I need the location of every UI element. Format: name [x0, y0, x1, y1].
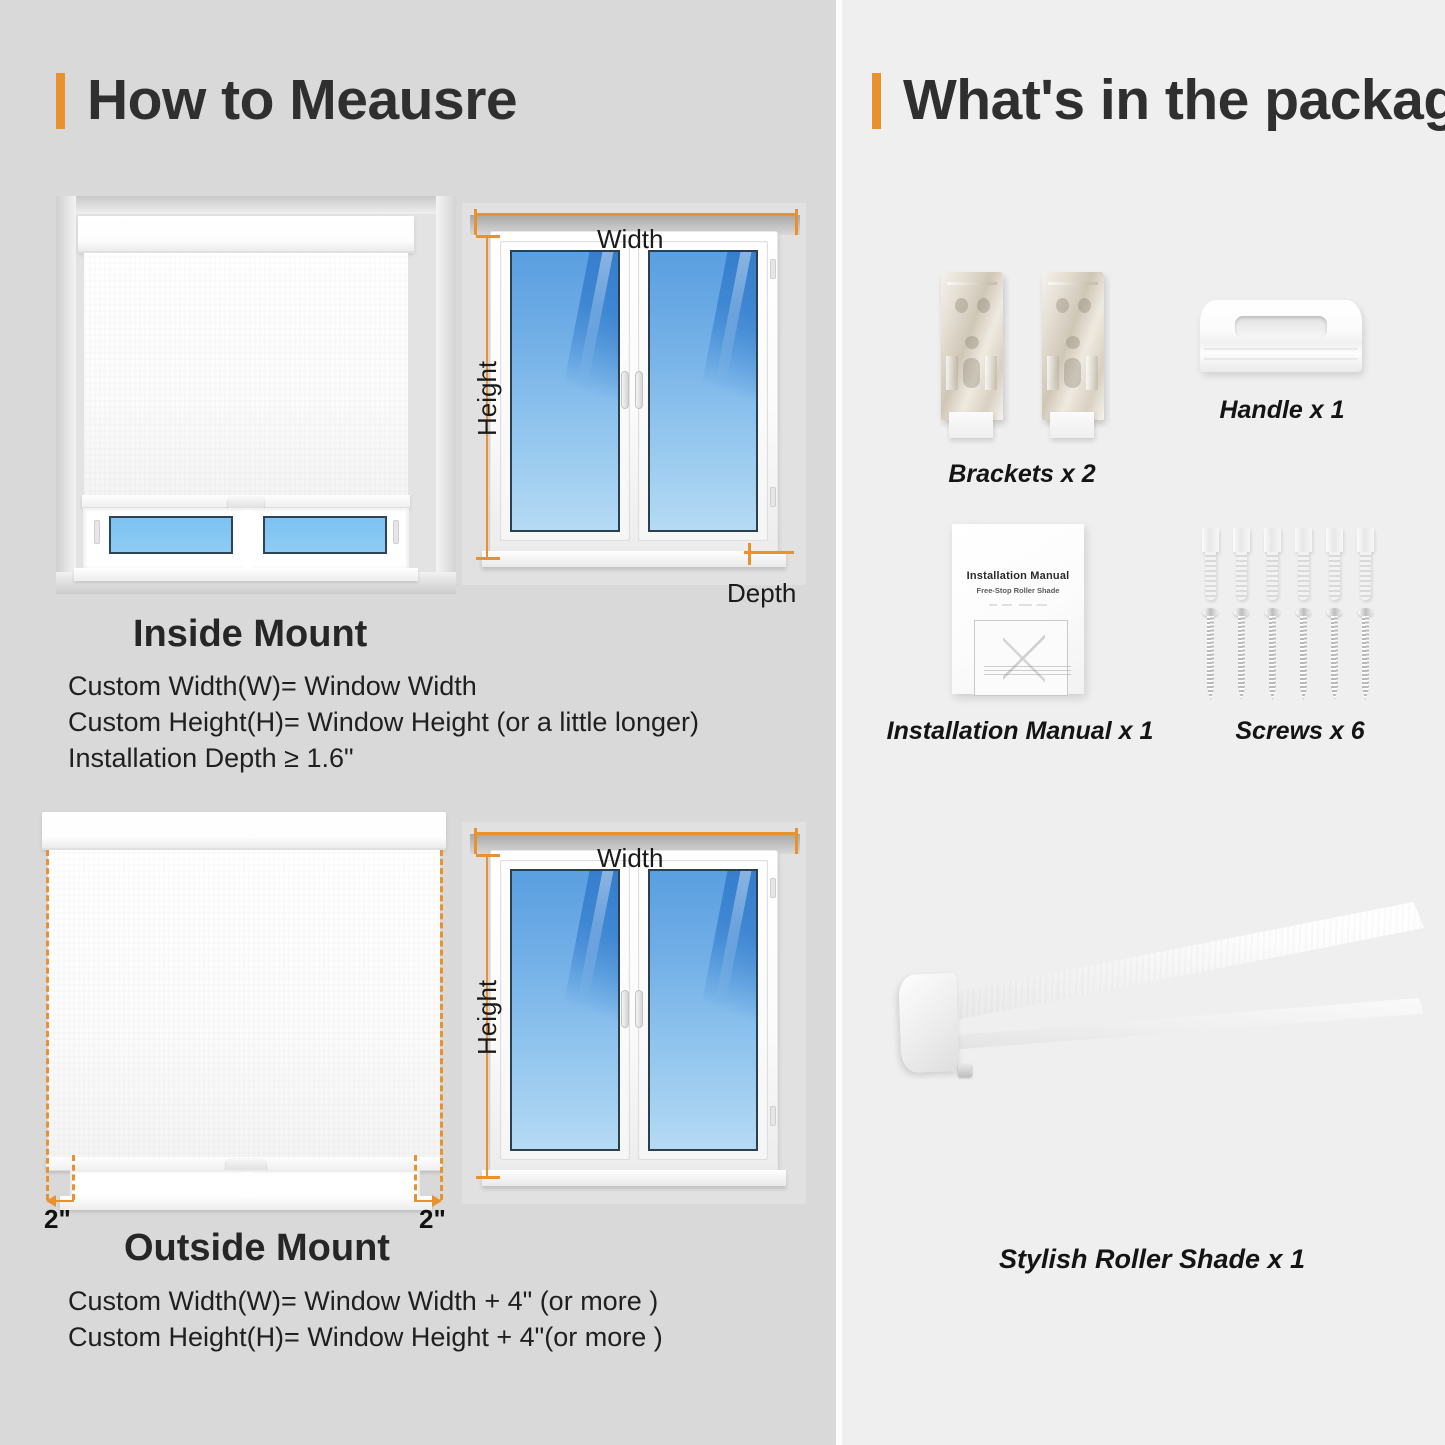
- window-behind-shade: [83, 508, 409, 570]
- manual-label: Installation Manual x 1: [880, 717, 1160, 746]
- package-contents-panel: What's in the package: [842, 0, 1445, 1445]
- outside-width-marker-left-cap: [474, 828, 477, 854]
- window-sash-left: [500, 241, 630, 541]
- screw: [1327, 608, 1342, 700]
- right-heading-text: What's in the package: [903, 72, 1445, 129]
- anchor-head: [1233, 528, 1250, 552]
- bracket-stripe-2b: [1047, 356, 1059, 390]
- inside-depth-label: Depth: [727, 578, 796, 609]
- outside-mount-illustration: [36, 812, 456, 1212]
- bracket-hole-1b: [977, 298, 990, 313]
- outside-mount-window-diagram: [462, 822, 806, 1204]
- outside-mount-spec-2: Custom Height(H)= Window Height + 4"(or …: [68, 1322, 663, 1353]
- window-frame-hinge-top: [770, 259, 776, 279]
- recess-top-edge: [56, 196, 456, 214]
- anchor-body: [1205, 552, 1216, 600]
- bracket-hole-2b: [1078, 298, 1091, 313]
- overhang-dash-right-outer: [440, 850, 443, 1200]
- recess-left-edge: [56, 196, 76, 594]
- outside-window-frame-hinge-top: [770, 878, 776, 898]
- overhang-label-left: 2": [44, 1204, 71, 1235]
- manual-cover-footer-lines: [984, 666, 1071, 680]
- outside-window-sill: [60, 1196, 432, 1210]
- window-mullion: [243, 510, 253, 570]
- outside-height-marker-top-cap: [476, 854, 500, 857]
- wall-anchor: [1326, 528, 1343, 600]
- manual-cover-scribble: [989, 604, 1047, 606]
- screw: [1265, 608, 1280, 700]
- outside-window-sash-left: [500, 860, 630, 1160]
- screw-shaft: [1300, 616, 1307, 700]
- screw: [1358, 608, 1373, 700]
- bracket-body-1: [941, 272, 1003, 420]
- bracket-stripe-1b: [946, 356, 958, 390]
- screw-icon: [1202, 528, 1397, 700]
- anchor-body: [1360, 552, 1371, 600]
- shade-valance: [78, 216, 414, 253]
- anchor-head: [1326, 528, 1343, 552]
- right-panel-heading: What's in the package: [872, 72, 1445, 129]
- outside-window-diagram-sill: [482, 1170, 786, 1186]
- inside-mount-illustration: [56, 196, 456, 594]
- bracket-body-2: [1042, 272, 1104, 420]
- outside-window-glass-right: [648, 869, 758, 1151]
- anchor-body: [1236, 552, 1247, 600]
- wall-anchor: [1202, 528, 1219, 600]
- shade-fabric: [84, 253, 408, 498]
- inside-mount-spec-2: Custom Height(H)= Window Height (or a li…: [68, 707, 699, 738]
- handle-ridge-2: [1204, 358, 1358, 360]
- screw-shaft: [1331, 616, 1338, 700]
- window-handle-left: [621, 371, 629, 409]
- handle-ridge-1: [1204, 348, 1358, 350]
- overhang-dash-right-inner: [414, 1155, 417, 1200]
- accent-bar-right: [872, 73, 881, 129]
- roller-shade-end-cap: [898, 973, 959, 1073]
- manual-cover-diagram-box: [974, 620, 1068, 696]
- outside-height-label: Height: [472, 980, 503, 1055]
- window-hinge-right: [393, 520, 399, 544]
- inside-mount-title: Inside Mount: [133, 613, 367, 656]
- width-marker-right-cap: [795, 209, 798, 235]
- window-handle-right: [635, 371, 643, 409]
- left-panel-heading: How to Meausre: [56, 72, 517, 129]
- anchor-head: [1357, 528, 1374, 552]
- outside-window-glass-left: [510, 869, 620, 1151]
- handle-icon: [1200, 300, 1362, 372]
- bracket-hole-2a: [1056, 298, 1069, 313]
- inside-mount-spec-1: Custom Width(W)= Window Width: [68, 671, 477, 702]
- window-hinge-left: [94, 520, 100, 544]
- roller-shade-tube: [904, 902, 1424, 1020]
- window-sash-right: [638, 241, 768, 541]
- outside-window-outer-frame: [490, 850, 778, 1172]
- window-frame-hinge-bottom: [770, 487, 776, 507]
- anchor-head: [1295, 528, 1312, 552]
- depth-marker-bar: [744, 551, 794, 554]
- screw-head: [1296, 608, 1311, 617]
- width-marker-left-cap: [474, 209, 477, 235]
- accent-bar-left: [56, 73, 65, 129]
- infographic-page: How to Meausre: [0, 0, 1445, 1445]
- window-glass-right: [648, 250, 758, 532]
- bracket-hole-1c: [965, 336, 979, 349]
- bracket-hole-2c: [1066, 336, 1080, 349]
- anchor-body: [1267, 552, 1278, 600]
- bracket-stripe-1c: [985, 356, 997, 390]
- outside-width-marker-bar: [474, 832, 798, 835]
- wall-anchor: [1264, 528, 1281, 600]
- screw: [1234, 608, 1249, 700]
- depth-marker-cap: [748, 543, 751, 565]
- anchor-body: [1298, 552, 1309, 600]
- glass-pane-right: [263, 516, 387, 554]
- inside-height-label: Height: [472, 361, 503, 436]
- overhang-dash-left-inner: [72, 1155, 75, 1200]
- wall-anchor: [1295, 528, 1312, 600]
- handle-slot: [1235, 316, 1327, 338]
- handle-label: Handle x 1: [1182, 396, 1382, 425]
- brackets-label: Brackets x 2: [902, 460, 1142, 489]
- outside-width-label: Width: [597, 843, 663, 874]
- overhang-label-right: 2": [419, 1204, 446, 1235]
- screw-head: [1265, 608, 1280, 617]
- bracket-icon: [941, 272, 1001, 418]
- roller-shade-icon: [862, 880, 1427, 1200]
- height-marker-top-cap: [476, 235, 500, 238]
- bracket-hole-1d: [963, 358, 980, 388]
- bracket-hole-2d: [1064, 358, 1081, 388]
- roller-shade-label: Stylish Roller Shade x 1: [972, 1244, 1332, 1275]
- screw: [1203, 608, 1218, 700]
- anchor-body: [1329, 552, 1340, 600]
- overhang-dash-left-outer: [46, 850, 49, 1200]
- recess-right-edge: [436, 196, 456, 594]
- anchor-head: [1264, 528, 1281, 552]
- screw-shaft: [1238, 616, 1245, 700]
- outside-mount-title: Outside Mount: [124, 1227, 390, 1270]
- window-diagram-sill: [482, 551, 786, 567]
- bracket-icon-2: [1042, 272, 1102, 418]
- outside-mount-spec-1: Custom Width(W)= Window Width + 4" (or m…: [68, 1286, 658, 1317]
- bracket-tab-2: [1050, 412, 1094, 438]
- glass-pane-left: [109, 516, 233, 554]
- screw-head: [1203, 608, 1218, 617]
- screw-shaft: [1362, 616, 1369, 700]
- wall-anchor: [1233, 528, 1250, 600]
- bracket-hole-1a: [955, 298, 968, 313]
- outside-height-marker-bottom-cap: [476, 1176, 500, 1179]
- manual-cover-title: Installation Manual: [952, 570, 1084, 582]
- anchor-head: [1202, 528, 1219, 552]
- inside-width-label: Width: [597, 224, 663, 255]
- outside-window-handle-right: [635, 990, 643, 1028]
- bracket-stripe-2a: [1048, 282, 1098, 285]
- window-sill: [74, 568, 418, 581]
- how-to-measure-panel: How to Meausre: [0, 0, 836, 1445]
- bracket-stripe-1a: [947, 282, 997, 285]
- screws-label: Screws x 6: [1190, 717, 1410, 746]
- manual-icon: Installation Manual Free-Stop Roller Sha…: [952, 524, 1084, 694]
- manual-cover-subtitle: Free-Stop Roller Shade: [952, 586, 1084, 595]
- outside-window-handle-left: [621, 990, 629, 1028]
- screw: [1296, 608, 1311, 700]
- window-outer-frame: [490, 231, 778, 553]
- inside-mount-spec-3: Installation Depth ≥ 1.6": [68, 743, 354, 774]
- height-marker-bottom-cap: [476, 557, 500, 560]
- roller-shade-pin: [958, 1064, 972, 1077]
- outside-shade-fabric: [48, 850, 440, 1160]
- screw-head: [1327, 608, 1342, 617]
- bracket-stripe-2c: [1086, 356, 1098, 390]
- outside-window-sash-right: [638, 860, 768, 1160]
- outside-shade-valance: [42, 812, 446, 850]
- window-glass-left: [510, 250, 620, 532]
- left-heading-text: How to Meausre: [87, 72, 517, 129]
- wall-anchor: [1357, 528, 1374, 600]
- width-marker-bar: [474, 213, 798, 216]
- screw-head: [1358, 608, 1373, 617]
- inside-mount-window-diagram: [462, 203, 806, 585]
- bracket-tab-1: [949, 412, 993, 438]
- screw-head: [1234, 608, 1249, 617]
- outside-window-frame-hinge-bottom: [770, 1106, 776, 1126]
- screw-shaft: [1207, 616, 1214, 700]
- outside-width-marker-right-cap: [795, 828, 798, 854]
- screw-shaft: [1269, 616, 1276, 700]
